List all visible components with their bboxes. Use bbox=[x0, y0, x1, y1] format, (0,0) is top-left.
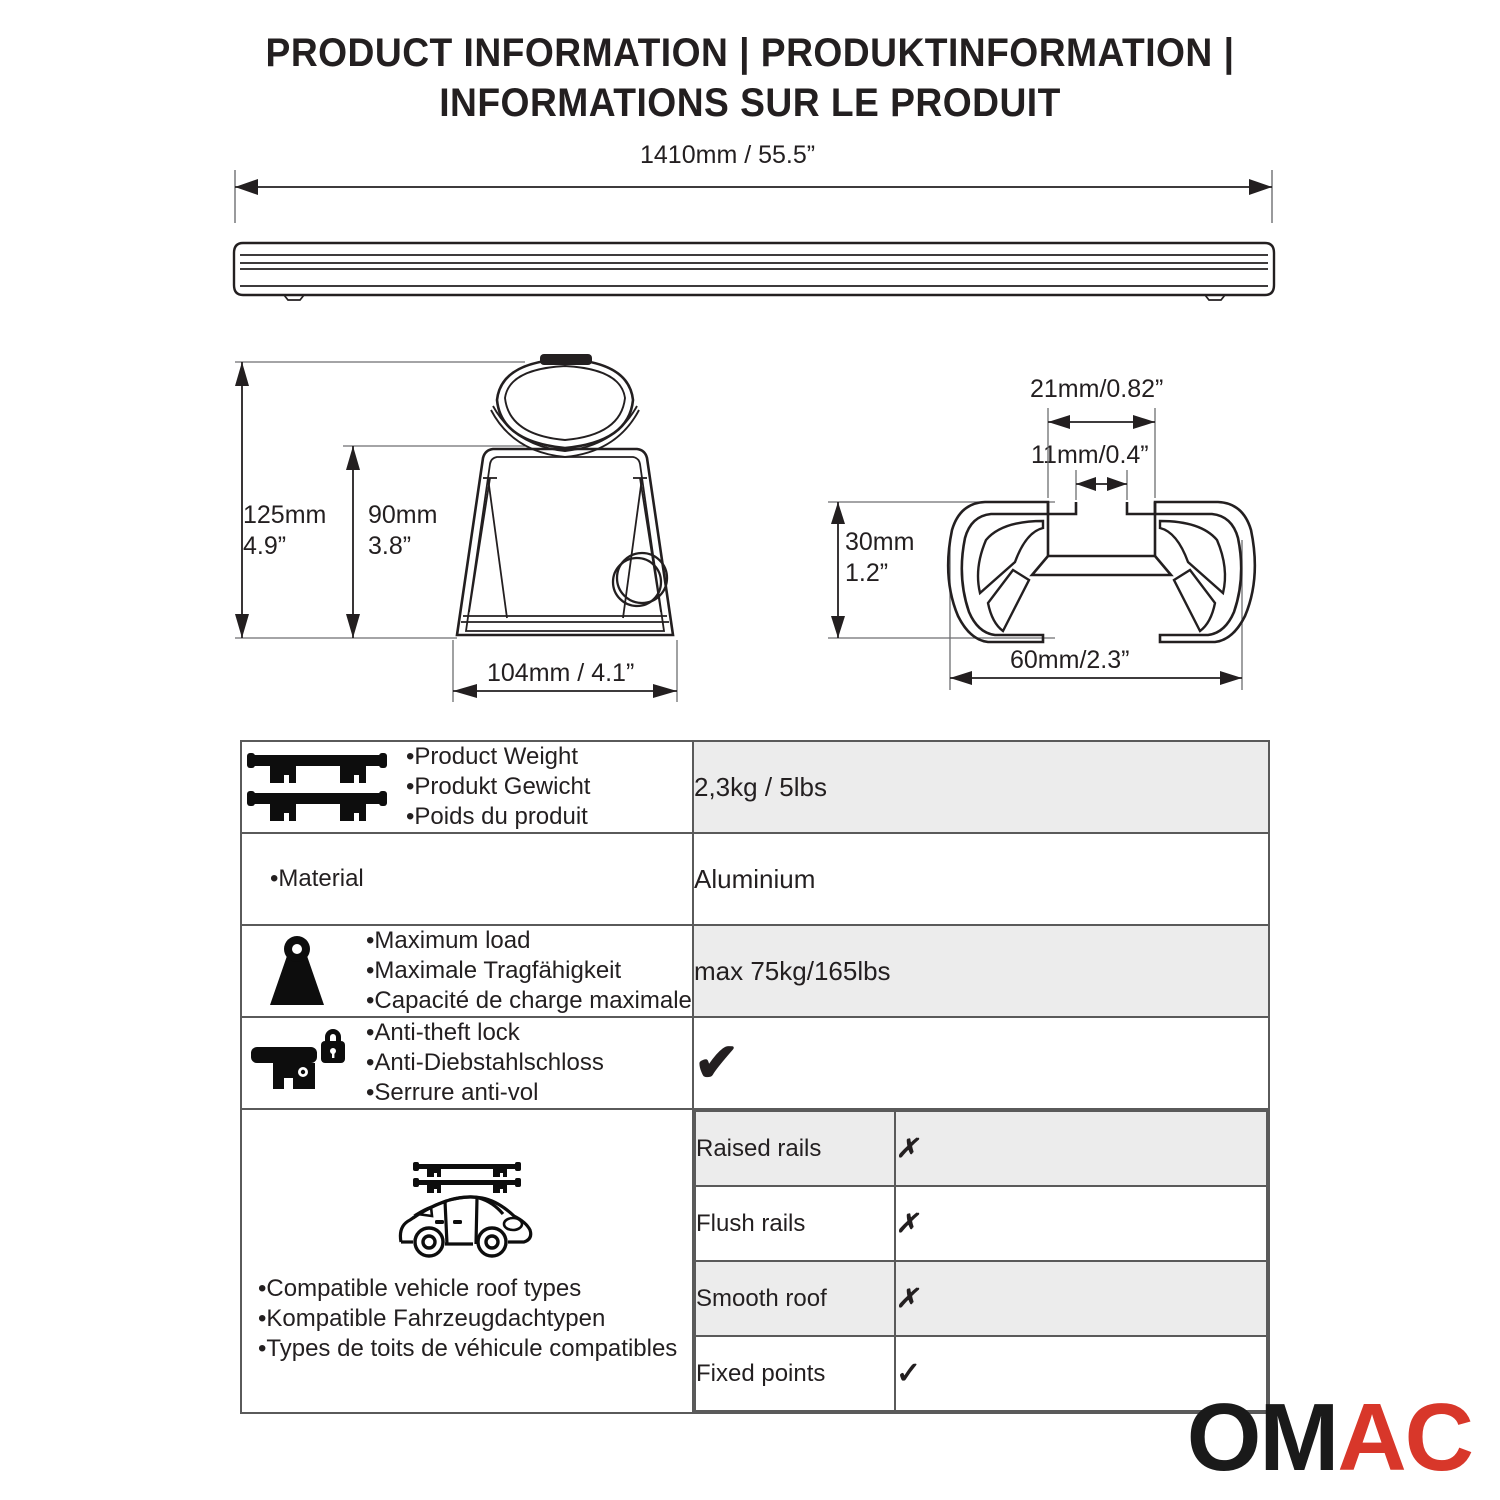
roof-types-label-text: •Compatible vehicle roof types •Kompatib… bbox=[242, 1274, 692, 1364]
spec-value-cell: Aluminium bbox=[693, 833, 1269, 925]
roof-type-name: Smooth roof bbox=[695, 1261, 895, 1336]
check-mark: ✔ bbox=[694, 1033, 739, 1093]
roof-type-mark: ✗ bbox=[895, 1261, 1267, 1336]
cross-mark: ✗ bbox=[896, 1283, 918, 1313]
omac-logo: OMAC bbox=[1187, 1390, 1472, 1486]
title-line-2: INFORMATIONS SUR LE PRODUIT bbox=[53, 78, 1448, 128]
table-row: •Product Weight •Produkt Gewicht •Poids … bbox=[241, 741, 1269, 833]
spec-label-cell: •Product Weight •Produkt Gewicht •Poids … bbox=[241, 741, 693, 833]
roof-type-name: Fixed points bbox=[695, 1336, 895, 1411]
roof-type-row: Raised rails ✗ bbox=[695, 1111, 1267, 1186]
logo-text-black: OM bbox=[1187, 1384, 1338, 1491]
roof-types-label-cell: •Compatible vehicle roof types •Kompatib… bbox=[241, 1109, 693, 1413]
check-mark: ✓ bbox=[896, 1357, 921, 1390]
roof-types-table: Raised rails ✗ Flush rails ✗ bbox=[694, 1110, 1268, 1412]
table-row: •Maximum load •Maximale Tragfähigkeit •C… bbox=[241, 925, 1269, 1017]
product-spec-table: •Product Weight •Produkt Gewicht •Poids … bbox=[240, 740, 1270, 1414]
roof-type-mark: ✗ bbox=[895, 1186, 1267, 1261]
roof-type-row: Fixed points ✓ bbox=[695, 1336, 1267, 1411]
table-row: •Material Aluminium bbox=[241, 833, 1269, 925]
spec-value-cell: max 75kg/165lbs bbox=[693, 925, 1269, 1017]
spec-label-text: •Maximum load •Maximale Tragfähigkeit •C… bbox=[366, 926, 692, 1016]
roof-type-row: Flush rails ✗ bbox=[695, 1186, 1267, 1261]
weight-kettlebell-icon bbox=[242, 931, 352, 1011]
spec-label-cell: •Material bbox=[241, 833, 693, 925]
car-with-roof-rack-icon bbox=[387, 1158, 547, 1268]
roof-rack-foot-diagram bbox=[225, 350, 705, 710]
table-row: •Anti-theft lock •Anti-Diebstahlschloss … bbox=[241, 1017, 1269, 1109]
roof-type-row: Smooth roof ✗ bbox=[695, 1261, 1267, 1336]
crossbar-side-view-diagram bbox=[210, 165, 1300, 315]
cross-mark: ✗ bbox=[896, 1208, 918, 1238]
roof-type-name: Raised rails bbox=[695, 1111, 895, 1186]
spec-label-text: •Product Weight •Produkt Gewicht •Poids … bbox=[406, 742, 590, 832]
spec-value-cell: ✔ bbox=[693, 1017, 1269, 1109]
padlock-bar-icon bbox=[242, 1027, 352, 1099]
page-title: PRODUCT INFORMATION | PRODUKTINFORMATION… bbox=[0, 28, 1500, 128]
spec-value-cell: 2,3kg / 5lbs bbox=[693, 741, 1269, 833]
roof-types-cell: Raised rails ✗ Flush rails ✗ bbox=[693, 1109, 1269, 1413]
two-crossbars-icon bbox=[242, 747, 392, 827]
spec-label-text: •Anti-theft lock •Anti-Diebstahlschloss … bbox=[366, 1018, 604, 1108]
bar-cross-section-diagram bbox=[810, 390, 1290, 700]
table-row-roof-types: •Compatible vehicle roof types •Kompatib… bbox=[241, 1109, 1269, 1413]
spec-label-cell: •Anti-theft lock •Anti-Diebstahlschloss … bbox=[241, 1017, 693, 1109]
logo-text-red: AC bbox=[1337, 1384, 1472, 1491]
title-line-1: PRODUCT INFORMATION | PRODUKTINFORMATION… bbox=[53, 28, 1448, 78]
spec-label-cell: •Maximum load •Maximale Tragfähigkeit •C… bbox=[241, 925, 693, 1017]
roof-type-mark: ✗ bbox=[895, 1111, 1267, 1186]
spec-label-text: •Material bbox=[242, 864, 364, 894]
roof-type-name: Flush rails bbox=[695, 1186, 895, 1261]
cross-mark: ✗ bbox=[896, 1133, 918, 1163]
